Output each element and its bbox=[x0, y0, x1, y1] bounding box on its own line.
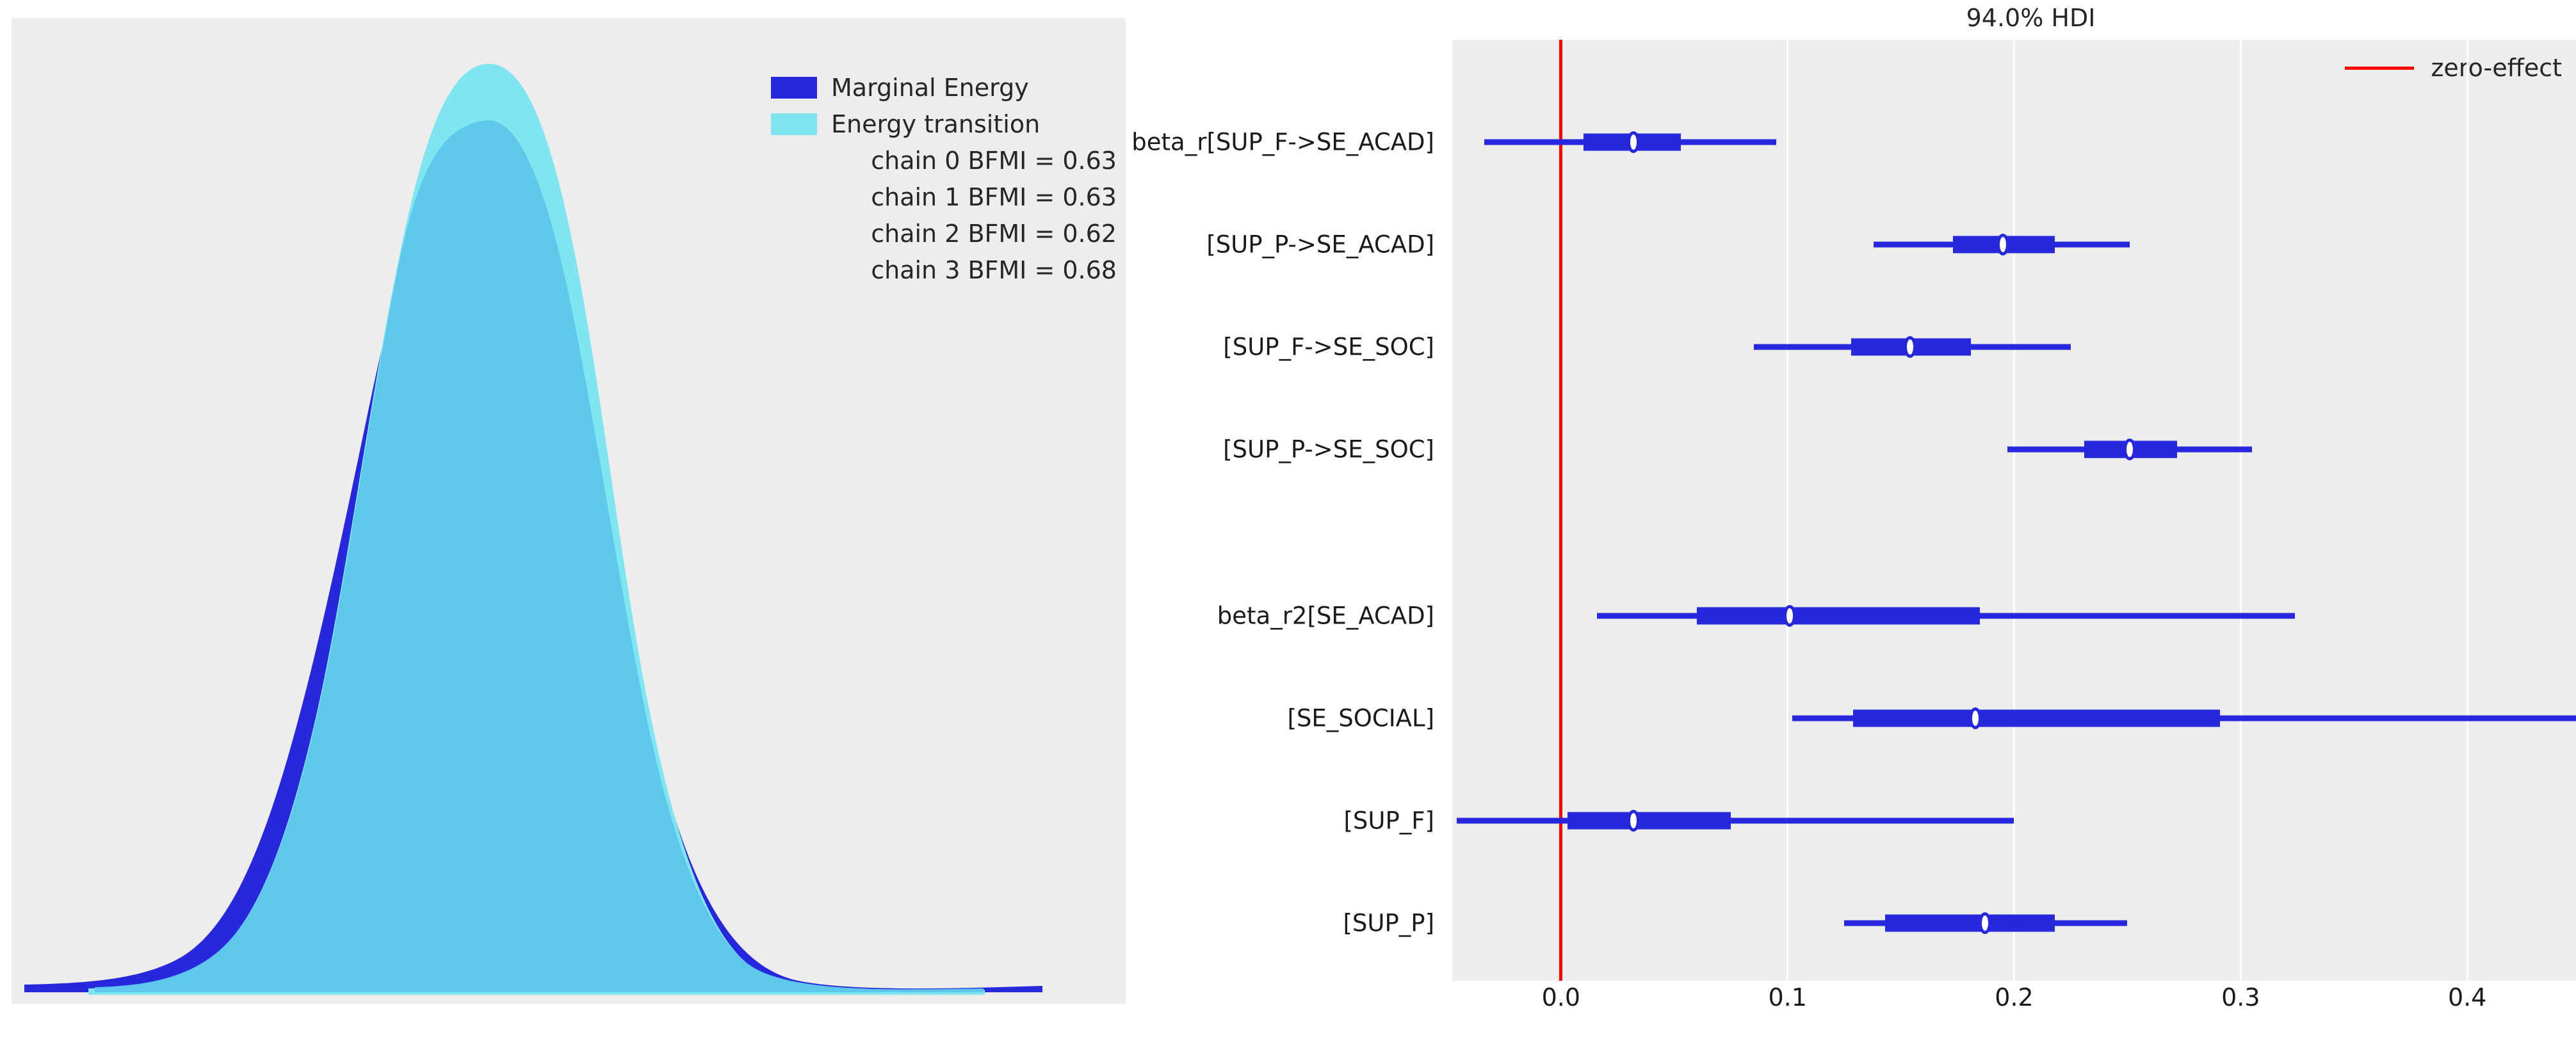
y-tick-label: [SUP_F] bbox=[1343, 807, 1434, 835]
legend-item-marginal-energy: Marginal Energy bbox=[771, 69, 1117, 106]
forest-legend: zero-effect bbox=[2345, 54, 2562, 82]
y-tick-label: [SUP_P->SE_SOC] bbox=[1223, 436, 1434, 463]
bfmi-label-chain-0: chain 0 BFMI = 0.63 bbox=[871, 149, 1117, 173]
forest-plot-panel: 94.0% HDI beta_r[SUP_F->SE_ACAD][SUP_P->… bbox=[1133, 0, 2576, 1039]
gridline-x-0.2 bbox=[2013, 40, 2015, 981]
point-estimate-marker bbox=[1904, 336, 1916, 358]
y-tick-label: beta_r2[SE_ACAD] bbox=[1217, 602, 1434, 630]
hdi-50-interval bbox=[1567, 812, 1731, 830]
point-estimate-marker bbox=[1969, 707, 1982, 729]
y-tick-label: [SUP_F->SE_SOC] bbox=[1223, 334, 1434, 361]
point-estimate-marker bbox=[1627, 810, 1640, 832]
x-tick-label-0.1: 0.1 bbox=[1768, 983, 1806, 1011]
marginal-energy-swatch-icon bbox=[771, 77, 817, 99]
legend-label-marginal-energy: Marginal Energy bbox=[831, 76, 1029, 100]
bfmi-label-chain-3: chain 3 BFMI = 0.68 bbox=[871, 258, 1117, 282]
bfmi-label-chain-1: chain 1 BFMI = 0.63 bbox=[871, 185, 1117, 209]
point-estimate-marker bbox=[1979, 912, 1991, 934]
x-tick-label-0.2: 0.2 bbox=[1995, 983, 2033, 1011]
energy-transition-swatch-icon bbox=[771, 113, 817, 135]
gridline-x-0.4 bbox=[2467, 40, 2468, 981]
legend-item-bfmi-chain-2: chain 2 BFMI = 0.62 bbox=[771, 215, 1117, 252]
hdi-50-interval bbox=[1853, 710, 2220, 727]
forest-plot-axes: zero-effect bbox=[1452, 40, 2576, 981]
hdi-50-interval bbox=[1885, 915, 2055, 932]
bfmi-label-chain-2: chain 2 BFMI = 0.62 bbox=[871, 221, 1117, 246]
legend-item-energy-transition: Energy transition bbox=[771, 106, 1117, 142]
point-estimate-marker bbox=[1627, 131, 1640, 153]
hdi-50-interval bbox=[1697, 608, 1980, 625]
x-tick-label-0.3: 0.3 bbox=[2221, 983, 2260, 1011]
zero-effect-line-icon bbox=[2345, 67, 2414, 70]
y-tick-label: [SE_SOCIAL] bbox=[1287, 705, 1434, 732]
legend-label-energy-transition: Energy transition bbox=[831, 112, 1040, 136]
forest-x-axis-labels: 0.00.10.20.30.4 bbox=[1452, 983, 2576, 1028]
point-estimate-marker bbox=[2123, 439, 2136, 460]
figure-canvas: Marginal Energy Energy transition chain … bbox=[0, 0, 2576, 1039]
gridline-x-0.1 bbox=[1786, 40, 1788, 981]
gridline-x-0.3 bbox=[2240, 40, 2242, 981]
y-tick-label: [SUP_P] bbox=[1343, 910, 1434, 937]
x-tick-label-0.4: 0.4 bbox=[2448, 983, 2486, 1011]
forest-y-axis-labels: beta_r[SUP_F->SE_ACAD][SUP_P->SE_ACAD][S… bbox=[1133, 40, 1448, 981]
legend-item-bfmi-chain-3: chain 3 BFMI = 0.68 bbox=[771, 252, 1117, 288]
energy-plot-panel: Marginal Energy Energy transition chain … bbox=[12, 18, 1126, 1004]
energy-legend: Marginal Energy Energy transition chain … bbox=[771, 69, 1117, 288]
y-tick-label: [SUP_P->SE_ACAD] bbox=[1206, 231, 1434, 259]
forest-plot-title: 94.0% HDI bbox=[1473, 4, 2576, 32]
legend-label-zero-effect: zero-effect bbox=[2431, 54, 2562, 82]
zero-effect-reference-line bbox=[1559, 40, 1562, 981]
y-tick-label: beta_r[SUP_F->SE_ACAD] bbox=[1131, 129, 1434, 156]
point-estimate-marker bbox=[1997, 234, 2009, 255]
legend-item-bfmi-chain-0: chain 0 BFMI = 0.63 bbox=[771, 142, 1117, 179]
x-tick-label-0.0: 0.0 bbox=[1542, 983, 1580, 1011]
legend-item-bfmi-chain-1: chain 1 BFMI = 0.63 bbox=[771, 179, 1117, 215]
hdi-94-interval bbox=[1457, 818, 2014, 824]
point-estimate-marker bbox=[1783, 605, 1796, 627]
